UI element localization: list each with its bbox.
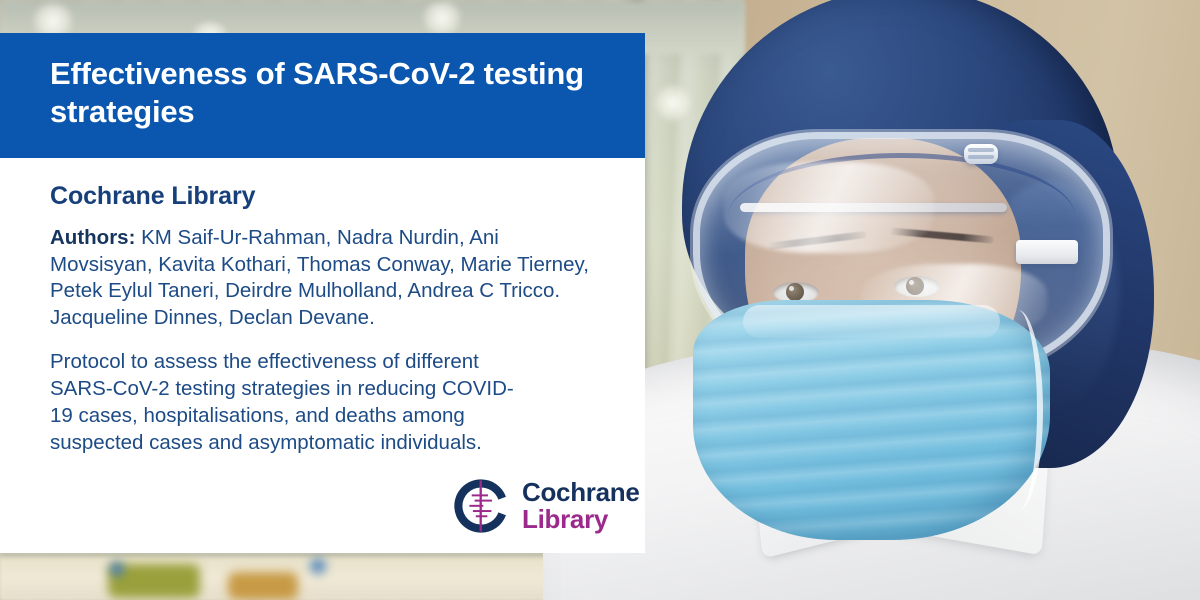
goggles-vent xyxy=(964,144,998,164)
abstract-text: Protocol to assess the effectiveness of … xyxy=(50,348,520,457)
counter-object xyxy=(110,562,124,576)
counter-object xyxy=(228,572,298,600)
logo-word-library: Library xyxy=(522,506,640,533)
journal-name: Cochrane Library xyxy=(50,182,595,211)
card-body: Cochrane Library Authors: KM Saif-Ur-Rah… xyxy=(0,158,645,457)
authors-label: Authors: xyxy=(50,226,135,249)
mask-nose-piece xyxy=(743,305,1000,339)
authors-line: Authors: KM Saif-Ur-Rahman, Nadra Nurdin… xyxy=(50,225,595,332)
counter-object xyxy=(310,558,326,574)
bokeh-light xyxy=(420,2,464,34)
poster-card: Effectiveness of SARS-CoV-2 testing stra… xyxy=(0,0,1200,600)
surgical-mask xyxy=(693,300,1050,540)
ppe-worker-figure xyxy=(624,0,1200,600)
page-title: Effectiveness of SARS-CoV-2 testing stra… xyxy=(50,55,595,131)
title-band: Effectiveness of SARS-CoV-2 testing stra… xyxy=(0,33,645,158)
goggles-glare xyxy=(724,162,934,253)
mask-edge xyxy=(980,310,1043,512)
cochrane-library-logo: Cochrane Library xyxy=(452,477,640,535)
logo-wordmark: Cochrane Library xyxy=(522,479,640,532)
content-card: Effectiveness of SARS-CoV-2 testing stra… xyxy=(0,33,645,553)
logo-word-cochrane: Cochrane xyxy=(522,479,640,506)
cochrane-logo-mark xyxy=(452,477,510,535)
goggles-strap xyxy=(1016,240,1078,264)
